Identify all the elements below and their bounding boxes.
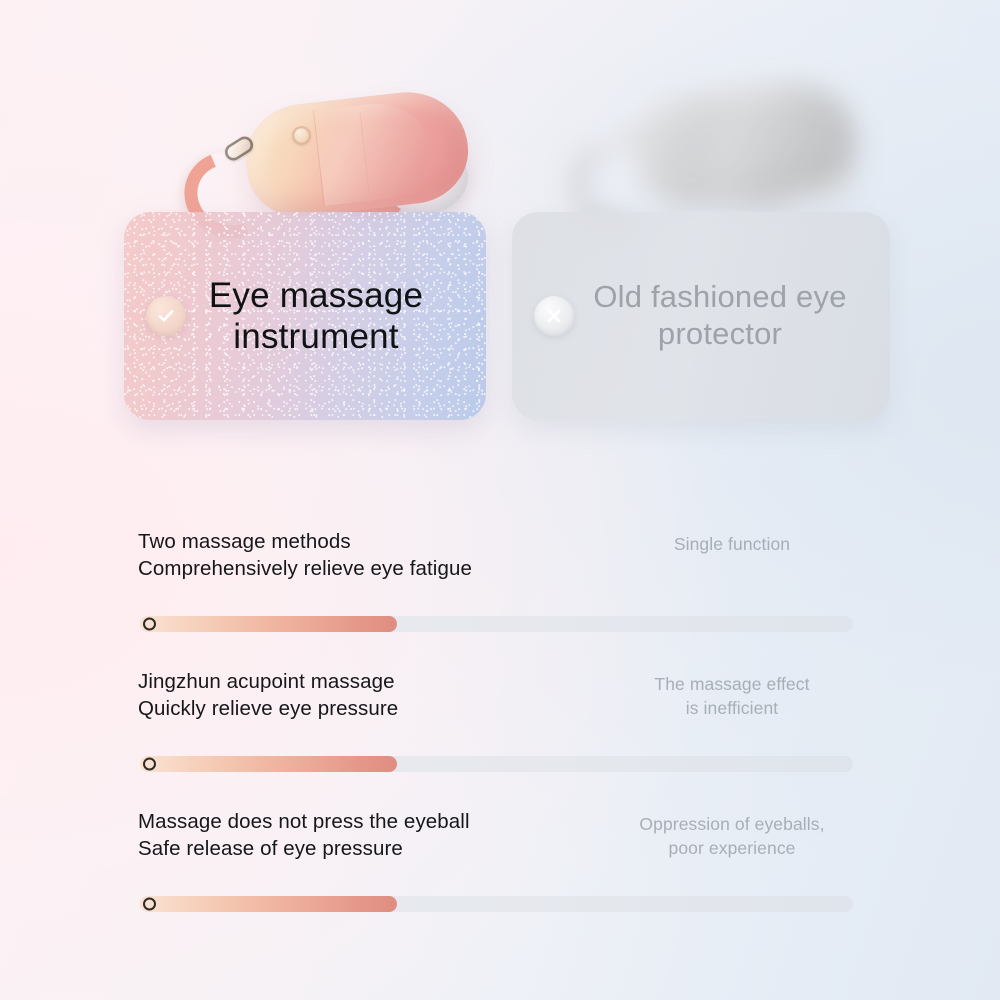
pro-feature-text: Massage does not press the eyeball Safe … [138, 808, 470, 863]
progress-start-knob [143, 618, 156, 631]
con-feature-text: The massage effect is inefficient [612, 672, 852, 720]
comparison-row: Jingzhun acupoint massage Quickly reliev… [0, 660, 1000, 800]
product-comparison-infographic: Eye massage instrument Old fashioned eye… [0, 0, 1000, 1000]
con-feature-text: Oppression of eyeballs, poor experience [612, 812, 852, 860]
device-lens-cup [767, 130, 860, 209]
progress-start-knob [143, 898, 156, 911]
device-seam [701, 88, 823, 196]
eye-massager-blurred-grey-photo [556, 36, 906, 241]
comparison-row: Massage does not press the eyeball Safe … [0, 800, 1000, 940]
progress-fill [140, 896, 397, 912]
con-product-card[interactable]: Old fashioned eye protector [512, 212, 890, 420]
eye-massager-pink-photo [168, 46, 508, 236]
device-body [628, 76, 861, 212]
progress-start-knob [143, 758, 156, 771]
device-power-button [292, 126, 311, 145]
feature-progress-bar [140, 756, 853, 772]
feature-progress-bar [140, 896, 853, 912]
device-seam [313, 98, 435, 206]
progress-fill [140, 756, 397, 772]
device-hinge-clip [222, 133, 256, 163]
device-body [240, 86, 473, 222]
pro-product-card[interactable]: Eye massage instrument [124, 212, 486, 420]
cross-circle-icon [534, 296, 574, 336]
device-strap-screw [374, 174, 379, 179]
pro-feature-text: Jingzhun acupoint massage Quickly reliev… [138, 668, 398, 723]
comparison-row: Two massage methods Comprehensively reli… [0, 520, 1000, 660]
device-strap-band [649, 148, 794, 214]
comparison-rows: Two massage methods Comprehensively reli… [0, 520, 1000, 940]
device-power-button [680, 116, 699, 135]
pro-feature-text: Two massage methods Comprehensively reli… [138, 528, 472, 583]
device-lens-cup [379, 140, 472, 219]
progress-fill [140, 616, 397, 632]
feature-progress-bar [140, 616, 853, 632]
device-seam-secondary [359, 104, 438, 195]
check-circle-icon [146, 296, 186, 336]
con-feature-text: Single function [612, 532, 852, 556]
device-hinge-clip [610, 123, 644, 153]
